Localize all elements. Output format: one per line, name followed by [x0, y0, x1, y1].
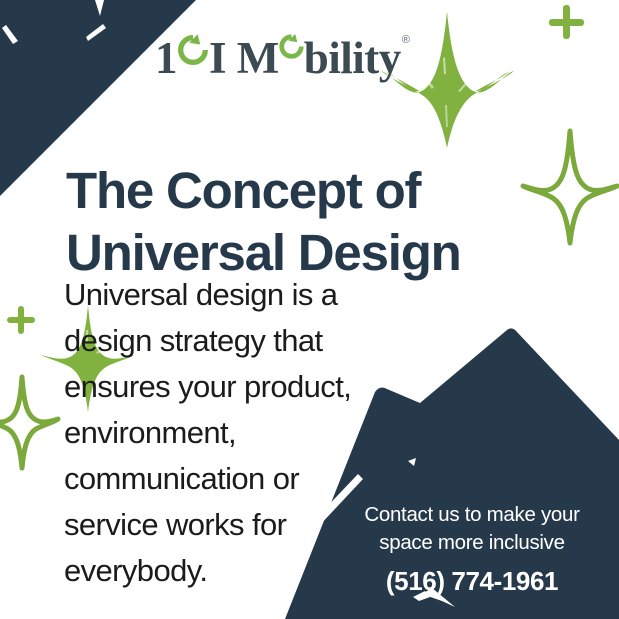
body-line: communication or — [64, 456, 409, 502]
contact-line-2: space more inclusive — [336, 529, 608, 557]
page-title: The Concept of Universal Design — [66, 160, 566, 284]
four-point-star-outline-icon — [0, 377, 58, 468]
contact-phone-number[interactable]: (516) 774-1961 — [336, 566, 608, 596]
headline-line-1: The Concept of — [66, 160, 566, 222]
contact-line-1: Contact us to make your — [336, 501, 608, 529]
plus-mark-icon — [549, 5, 584, 39]
body-line: design strategy that — [64, 318, 409, 364]
brand-logo[interactable]: 1 I M bility ® — [155, 33, 410, 85]
logo-text-part1: 1 — [155, 33, 177, 83]
logo-text-part3: bility — [304, 33, 401, 83]
registered-trademark-icon: ® — [402, 33, 410, 47]
body-line: environment, — [64, 410, 409, 456]
poster-canvas: 1 I M bility ® The Concept of Universal … — [0, 0, 619, 619]
circular-arrow-icon — [176, 33, 210, 67]
spark-speck-icon — [419, 102, 426, 109]
circular-arrow-icon — [278, 33, 305, 60]
plus-mark-icon — [7, 306, 35, 334]
body-line: ensures your product, — [64, 364, 409, 410]
logo-text-part2: I M — [209, 33, 279, 83]
body-line: Universal design is a — [64, 272, 409, 318]
contact-block: Contact us to make your space more inclu… — [336, 501, 608, 596]
